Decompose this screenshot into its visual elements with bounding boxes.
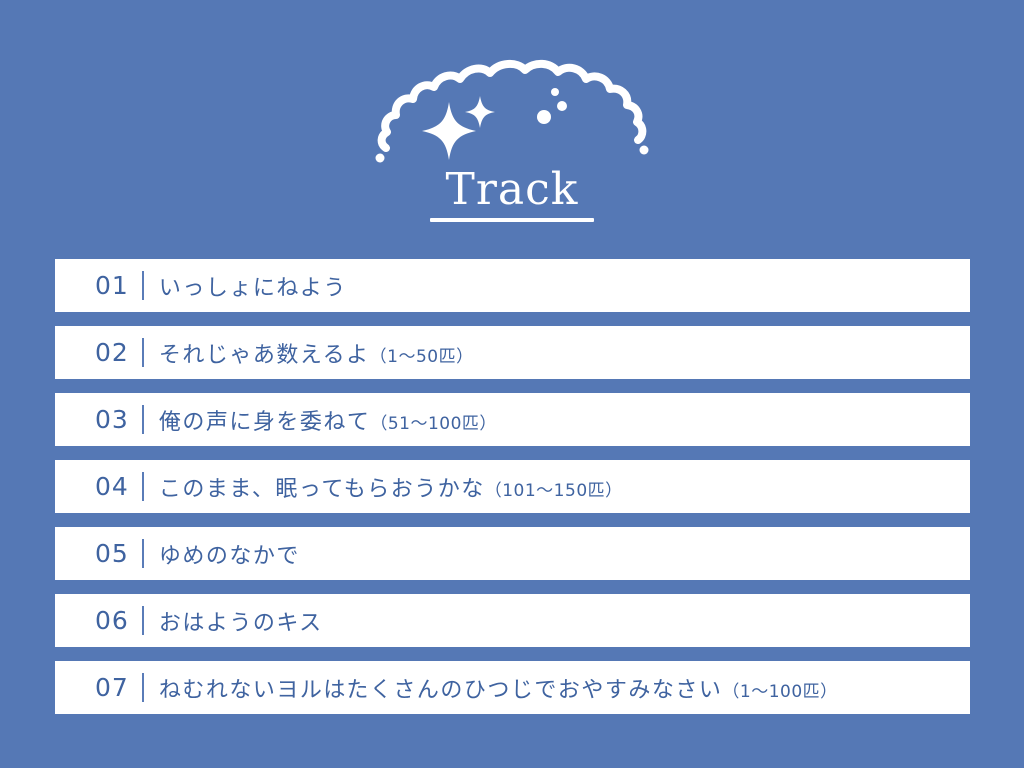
title-underline — [430, 218, 594, 222]
track-title: ゆめのなかで — [159, 538, 300, 570]
track-title: いっしょにねよう — [159, 270, 347, 302]
track-title: 俺の声に身を委ねて — [159, 404, 371, 436]
track-title-wrap: おはようのキス — [159, 605, 952, 637]
track-title-wrap: このまま、眠ってもらおうかな （101〜150匹） — [159, 471, 952, 503]
page-title: Track — [0, 164, 1024, 216]
track-title-wrap: 俺の声に身を委ねて （51〜100匹） — [159, 404, 952, 436]
track-separator-icon — [142, 338, 144, 367]
track-number: 07 — [95, 661, 129, 714]
track-row[interactable]: 02 それじゃあ数えるよ （1〜50匹） — [55, 326, 970, 379]
track-separator-icon — [142, 405, 144, 434]
track-title: このまま、眠ってもらおうかな — [159, 471, 485, 503]
track-title: それじゃあ数えるよ — [159, 337, 370, 369]
track-number: 03 — [95, 393, 129, 446]
track-row[interactable]: 04 このまま、眠ってもらおうかな （101〜150匹） — [55, 460, 970, 513]
track-title-wrap: ゆめのなかで — [159, 538, 952, 570]
page-header: Track — [0, 44, 1024, 234]
track-count-suffix: （1〜100匹） — [722, 677, 837, 702]
track-title-wrap: それじゃあ数えるよ （1〜50匹） — [159, 337, 952, 369]
track-separator-icon — [142, 271, 144, 300]
track-number: 02 — [95, 326, 129, 379]
track-count-suffix: （1〜50匹） — [370, 342, 474, 367]
track-title: ねむれないヨルはたくさんのひつじでおやすみなさい — [159, 672, 723, 704]
track-row[interactable]: 01 いっしょにねよう — [55, 259, 970, 312]
track-count-suffix: （51〜100匹） — [370, 409, 497, 434]
track-number: 04 — [95, 460, 129, 513]
track-row[interactable]: 03 俺の声に身を委ねて （51〜100匹） — [55, 393, 970, 446]
track-row[interactable]: 06 おはようのキス — [55, 594, 970, 647]
track-row[interactable]: 05 ゆめのなかで — [55, 527, 970, 580]
track-separator-icon — [142, 673, 144, 702]
track-title-wrap: いっしょにねよう — [159, 270, 952, 302]
track-separator-icon — [142, 539, 144, 568]
track-number: 01 — [95, 259, 129, 312]
cloud-night-sky-icon — [372, 44, 652, 164]
track-title-wrap: ねむれないヨルはたくさんのひつじでおやすみなさい （1〜100匹） — [159, 672, 952, 704]
track-count-suffix: （101〜150匹） — [485, 476, 623, 501]
track-row[interactable]: 07 ねむれないヨルはたくさんのひつじでおやすみなさい （1〜100匹） — [55, 661, 970, 714]
track-number: 06 — [95, 594, 129, 647]
track-list: 01 いっしょにねよう 02 それじゃあ数えるよ （1〜50匹） 03 俺の声に… — [55, 259, 970, 714]
track-list-page: Track 01 いっしょにねよう 02 それじゃあ数えるよ （1〜50匹） 0… — [0, 0, 1024, 768]
track-number: 05 — [95, 527, 129, 580]
track-separator-icon — [142, 472, 144, 501]
track-title: おはようのキス — [159, 605, 323, 637]
track-separator-icon — [142, 606, 144, 635]
